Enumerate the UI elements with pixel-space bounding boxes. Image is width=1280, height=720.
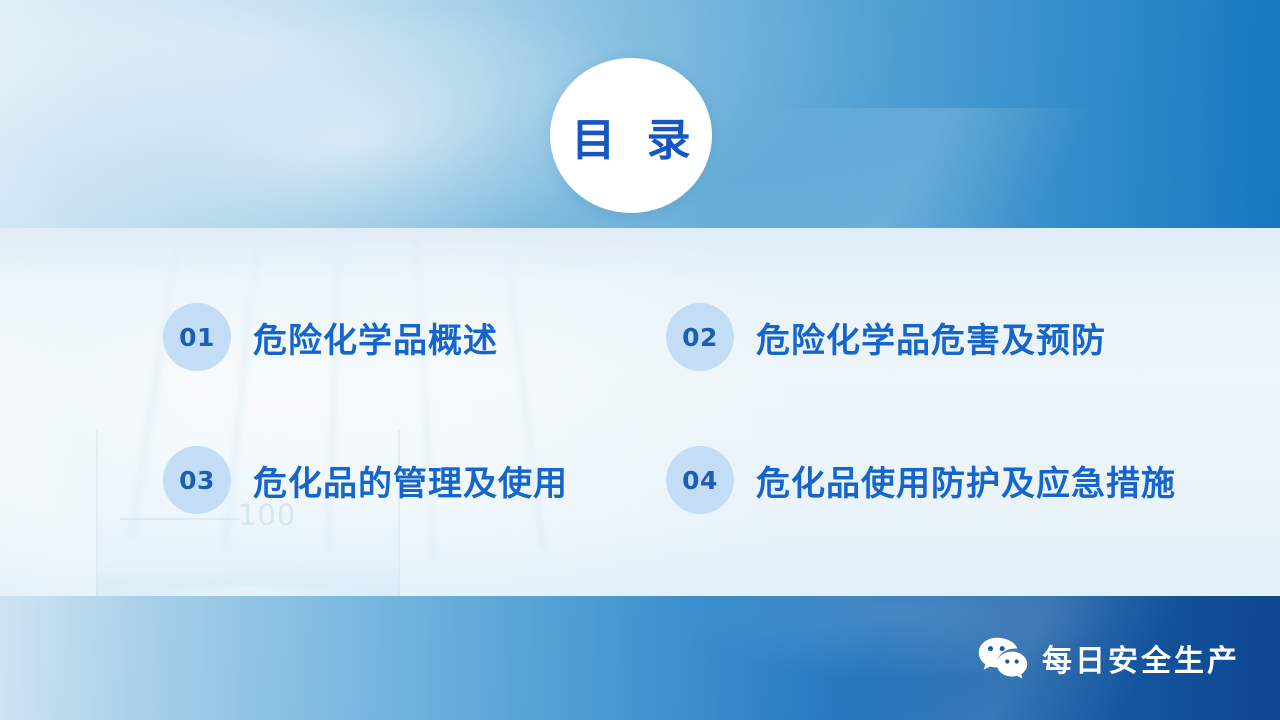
toc-item-label: 危险化学品概述: [253, 313, 498, 362]
toc-number-badge: 02: [666, 303, 734, 371]
watermark-account-name: 每日安全生产: [1042, 636, 1240, 680]
toc-number: 01: [179, 323, 215, 352]
table-of-contents: 01 危险化学品概述 02 危险化学品危害及预防 03 危化品的管理及使用 04: [0, 228, 1280, 600]
toc-number: 02: [682, 323, 718, 352]
toc-item-04[interactable]: 04 危化品使用防护及应急措施: [666, 446, 1176, 514]
wechat-icon: [978, 636, 1028, 680]
content-area: 01 危险化学品概述 02 危险化学品危害及预防 03 危化品的管理及使用 04: [0, 228, 1280, 600]
toc-number: 04: [682, 466, 718, 495]
presentation-slide: 100 75 50 vol. OH 目 录: [0, 0, 1280, 720]
toc-item-01[interactable]: 01 危险化学品概述: [163, 303, 498, 371]
toc-number: 03: [179, 466, 215, 495]
page-title: 目 录: [563, 104, 698, 168]
toc-item-02[interactable]: 02 危险化学品危害及预防: [666, 303, 1106, 371]
toc-item-03[interactable]: 03 危化品的管理及使用: [163, 446, 568, 514]
toc-number-badge: 04: [666, 446, 734, 514]
toc-item-label: 危化品使用防护及应急措施: [756, 456, 1176, 505]
title-circle: 目 录: [550, 58, 712, 213]
toc-number-badge: 01: [163, 303, 231, 371]
toc-item-label: 危险化学品危害及预防: [756, 313, 1106, 362]
toc-item-label: 危化品的管理及使用: [253, 456, 568, 505]
watermark: 每日安全生产: [978, 636, 1240, 680]
toc-number-badge: 03: [163, 446, 231, 514]
